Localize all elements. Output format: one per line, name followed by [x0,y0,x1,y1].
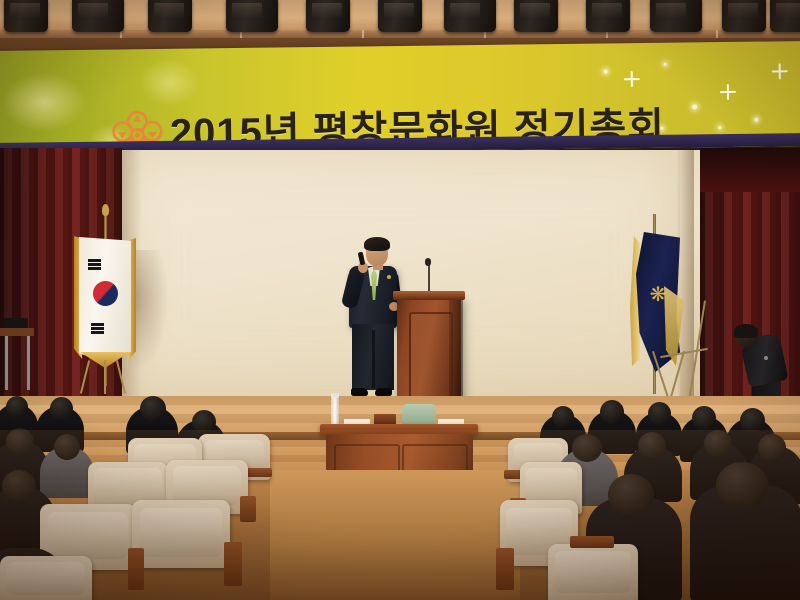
seat-armrest [496,548,514,590]
auditorium-seat[interactable] [0,556,92,600]
podium-mic-head-icon [425,258,431,266]
speaker-shoe [351,388,368,396]
audience-head [638,432,666,459]
trigram-icon [88,263,101,266]
audience-head [192,410,216,434]
seat-armrest [224,542,242,586]
speaker-hair [364,237,390,251]
water-bottle-cap [331,393,339,398]
trigram-icon [91,323,104,326]
stage-light-icon [306,0,350,32]
audience-head [740,408,765,433]
event-banner: 2015년 평창문화원 정기총회 2015. 2. 27 (금) 11:00 /… [0,41,800,156]
audience-head [572,434,602,462]
audience-head [6,428,34,455]
stage-light-icon [722,0,766,32]
audience-head [140,396,166,421]
stage-light-icon [148,0,192,32]
audience-head [54,434,80,460]
flag-stand-leg [104,360,106,394]
audience-head [600,400,624,424]
seat-armrest [570,536,614,548]
stage-light-icon [378,0,422,32]
stage-light-icon [226,0,278,32]
seat-armrest [128,548,144,590]
stage-light-icon [650,0,702,32]
stage-light-icon [4,0,48,32]
side-table-leg [27,336,30,390]
auditorium-seat[interactable] [132,500,230,568]
center-aisle [270,470,520,600]
speaker-lapel-badge [387,275,391,279]
flag-finial-icon [102,204,109,216]
podium-front-panel [409,312,453,402]
audience-head [758,434,786,461]
stage-curtain-right-top [700,148,800,192]
trigram-icon [88,267,101,270]
stage-staff-bag-detail [764,356,768,360]
side-table-leg [5,336,8,390]
auditorium-seat[interactable] [548,544,638,600]
side-table-top [0,328,34,336]
stage-light-icon [586,0,630,32]
audience-head [704,430,732,457]
stage-light-icon [770,0,800,32]
audience-head [6,396,28,418]
podium-top [393,291,465,300]
trigram-icon [91,331,104,334]
sparkle-icon [604,69,608,73]
trigram-icon [88,259,101,262]
audience-head [2,470,36,502]
stage-light-icon [514,0,558,32]
audience-head [608,474,654,516]
stage-light-icon [444,0,496,32]
audience-head [552,406,574,428]
stage-staff-hair [734,324,758,338]
audience-head [692,406,716,430]
audience-head [648,402,671,425]
taeguk-circle-icon [89,277,123,311]
audience-head [50,397,73,420]
seat-armrest [240,496,256,522]
sparkle-icon [664,63,667,66]
trigram-icon [91,327,104,330]
stage-light-icon [72,0,124,32]
speaker-shoe [375,388,392,396]
photo-scene: 2015년 평창문화원 정기총회 2015. 2. 27 (금) 11:00 /… [0,0,800,600]
korean-flag [79,237,131,362]
presider-chair [402,404,436,426]
water-bottle [331,396,339,426]
speaker-leg-split [372,330,375,388]
audience-head [716,462,768,508]
